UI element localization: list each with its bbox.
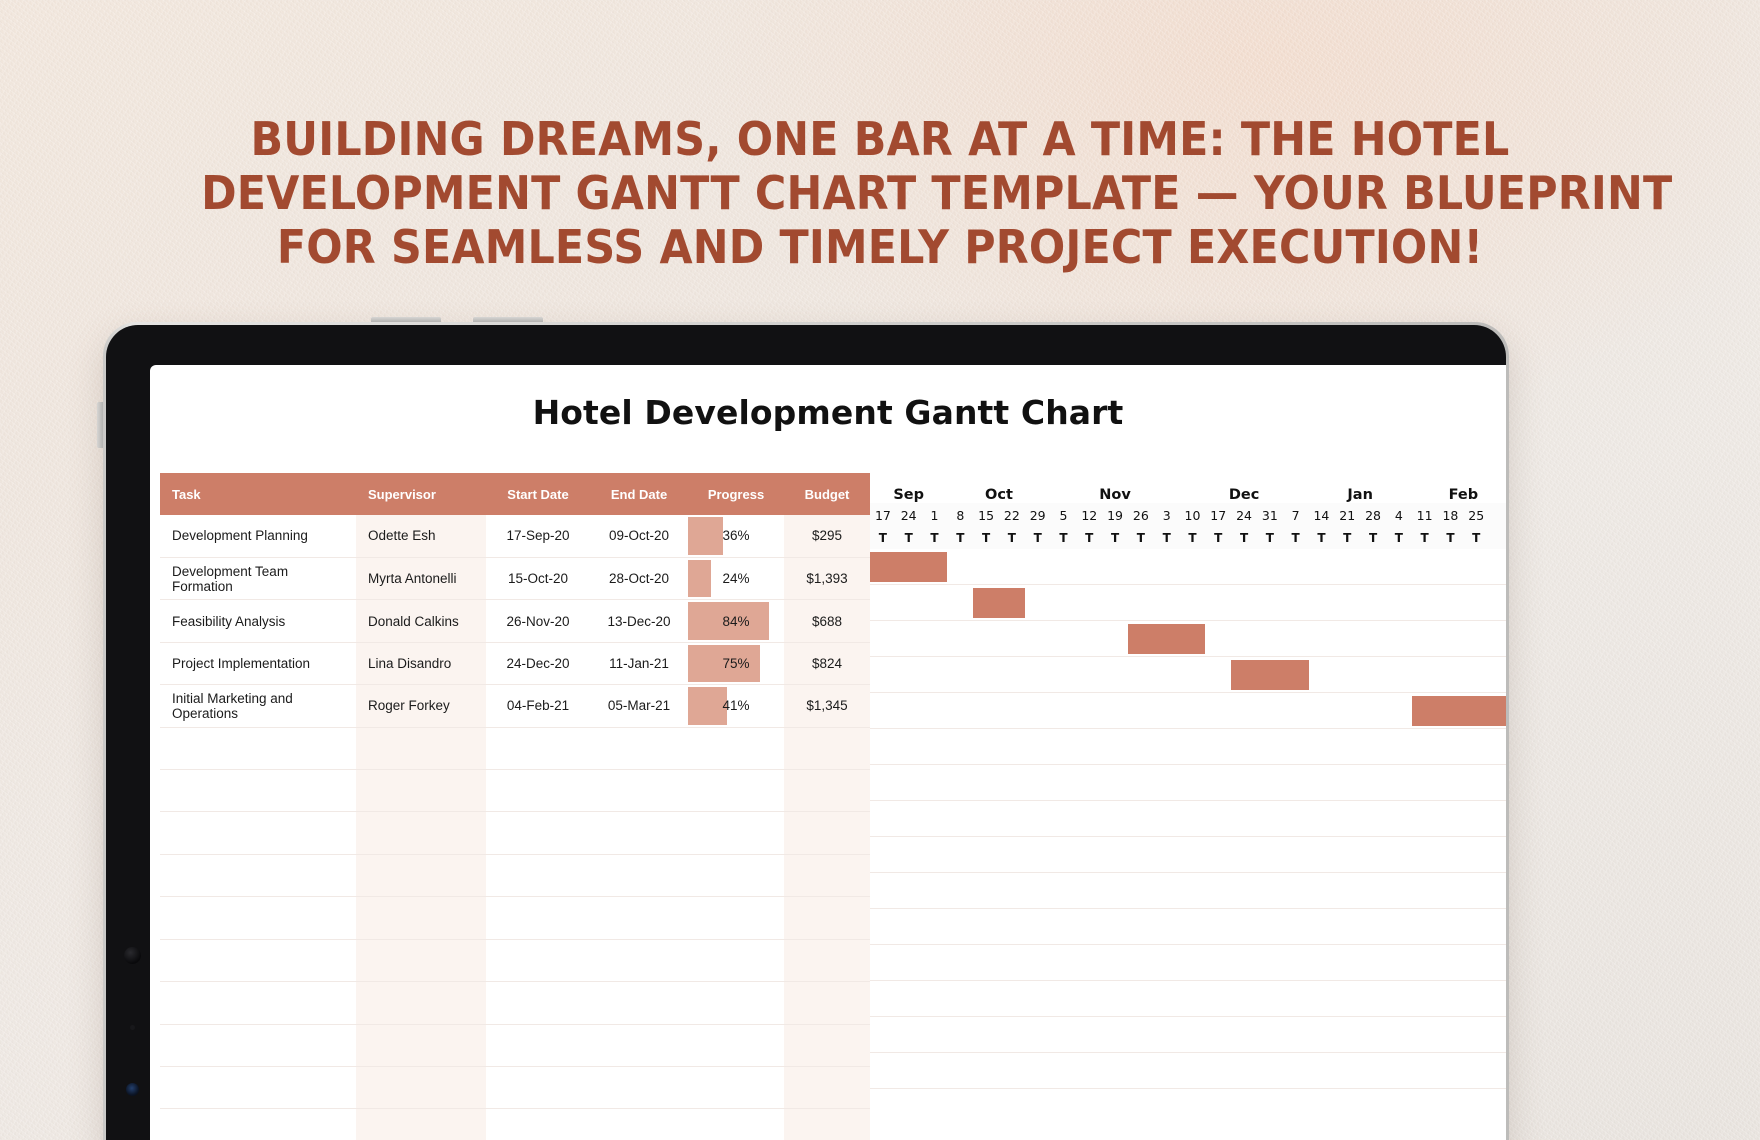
tablet-screen: Hotel Development Gantt Chart Task Super… <box>150 365 1506 1140</box>
timeline-tick-icon: T <box>947 531 973 545</box>
cell-empty[interactable] <box>160 982 356 1024</box>
cell-task[interactable]: Feasibility Analysis <box>160 600 356 642</box>
cell-empty[interactable] <box>590 939 688 981</box>
progress-label: 24% <box>722 571 749 586</box>
timeline-day-label: 14 <box>1309 508 1335 523</box>
table-row-empty[interactable] <box>160 770 870 812</box>
timeline-tick-icon: T <box>999 531 1025 545</box>
cell-supervisor[interactable]: Lina Disandro <box>356 642 486 684</box>
timeline-day-label: 25 <box>1463 508 1489 523</box>
table-row-empty[interactable] <box>160 897 870 939</box>
gantt-bar[interactable] <box>870 552 947 582</box>
cell-empty[interactable] <box>784 1066 870 1108</box>
headline-line-3: FOR SEAMLESS AND TIMELY PROJECT EXECUTIO… <box>201 220 1559 274</box>
timeline-month-label: Sep <box>870 487 947 503</box>
timeline-tick-icon: T <box>1025 531 1051 545</box>
cell-empty[interactable] <box>486 1109 590 1140</box>
column-header-progress[interactable]: Progress <box>688 473 784 515</box>
cell-empty[interactable] <box>688 770 784 812</box>
table-row-empty[interactable] <box>160 1109 870 1140</box>
page-headline: BUILDING DREAMS, ONE BAR AT A TIME: THE … <box>62 112 1699 274</box>
cell-empty[interactable] <box>688 982 784 1024</box>
cell-empty[interactable] <box>590 1066 688 1108</box>
table-row[interactable]: Development PlanningOdette Esh17-Sep-200… <box>160 515 870 557</box>
cell-empty[interactable] <box>160 897 356 939</box>
timeline-month-row: SepOctNovDecJanFeb <box>870 473 1506 503</box>
timeline-day-label: 4 <box>1386 508 1412 523</box>
cell-empty[interactable] <box>688 854 784 896</box>
timeline-month-label: Jan <box>1309 487 1412 503</box>
timeline-tick-icon: T <box>973 531 999 545</box>
timeline-tick-row: TTTTTTTTTTTTTTTTTTTTTTTT <box>870 527 1506 549</box>
table-row[interactable]: Project ImplementationLina Disandro24-De… <box>160 642 870 684</box>
gantt-bar[interactable] <box>1128 624 1205 654</box>
gantt-bar[interactable] <box>1231 660 1308 690</box>
timeline-tick-icon: T <box>1154 531 1180 545</box>
timeline-day-label: 24 <box>896 508 922 523</box>
timeline-day-label: 5 <box>1051 508 1077 523</box>
cell-empty[interactable] <box>688 1109 784 1140</box>
timeline-day-label: 8 <box>947 508 973 523</box>
cell-empty[interactable] <box>784 770 870 812</box>
timeline-tick-icon: T <box>870 531 896 545</box>
cell-supervisor[interactable]: Myrta Antonelli <box>356 557 486 599</box>
table-row-empty[interactable] <box>160 1066 870 1108</box>
cell-supervisor[interactable]: Odette Esh <box>356 515 486 557</box>
gantt-row-empty[interactable] <box>870 981 1506 1017</box>
timeline-day-label: 24 <box>1231 508 1257 523</box>
cell-progress[interactable]: 41% <box>688 685 784 727</box>
cell-empty[interactable] <box>688 1024 784 1066</box>
cell-start-date[interactable]: 17-Sep-20 <box>486 515 590 557</box>
cell-budget[interactable]: $1,345 <box>784 685 870 727</box>
progress-bar <box>688 517 723 555</box>
timeline-day-label: 17 <box>870 508 896 523</box>
timeline-day-label: 29 <box>1025 508 1051 523</box>
cell-start-date[interactable]: 15-Oct-20 <box>486 557 590 599</box>
gantt-row[interactable] <box>870 621 1506 657</box>
timeline-tick-icon: T <box>1463 531 1489 545</box>
tablet-device-mockup: Hotel Development Gantt Chart Task Super… <box>103 322 1509 1140</box>
gantt-row-empty[interactable] <box>870 729 1506 765</box>
cell-task[interactable]: Development Planning <box>160 515 356 557</box>
cell-empty[interactable] <box>356 727 486 769</box>
timeline-day-label: 31 <box>1257 508 1283 523</box>
table-row-empty[interactable] <box>160 854 870 896</box>
gantt-row[interactable] <box>870 657 1506 693</box>
cell-empty[interactable] <box>160 1066 356 1108</box>
timeline-day-label: 3 <box>1154 508 1180 523</box>
cell-empty[interactable] <box>590 1024 688 1066</box>
device-volume-button[interactable] <box>97 402 103 448</box>
gantt-row-empty[interactable] <box>870 909 1506 945</box>
cell-empty[interactable] <box>590 812 688 854</box>
gantt-timeline: SepOctNovDecJanFeb 172418152229512192631… <box>870 473 1506 1140</box>
timeline-day-label: 1 <box>922 508 948 523</box>
progress-label: 41% <box>722 698 749 713</box>
tablet-bezel: Hotel Development Gantt Chart Task Super… <box>106 325 1506 1140</box>
table-row-empty[interactable] <box>160 982 870 1024</box>
gantt-row-empty[interactable] <box>870 837 1506 873</box>
timeline-tick-icon: T <box>1180 531 1206 545</box>
cell-end-date[interactable]: 05-Mar-21 <box>590 685 688 727</box>
timeline-tick-icon: T <box>1128 531 1154 545</box>
cell-empty[interactable] <box>688 727 784 769</box>
gantt-bar[interactable] <box>973 588 1025 618</box>
cell-empty[interactable] <box>688 812 784 854</box>
cell-empty[interactable] <box>160 939 356 981</box>
device-camera-icon <box>124 947 141 964</box>
cell-empty[interactable] <box>784 854 870 896</box>
cell-empty[interactable] <box>486 1024 590 1066</box>
timeline-tick-icon: T <box>1257 531 1283 545</box>
cell-start-date[interactable]: 24-Dec-20 <box>486 642 590 684</box>
cell-empty[interactable] <box>486 982 590 1024</box>
cell-empty[interactable] <box>356 854 486 896</box>
timeline-day-label: 11 <box>1412 508 1438 523</box>
timeline-day-label: 19 <box>1102 508 1128 523</box>
timeline-month-label: Oct <box>947 487 1050 503</box>
cell-empty[interactable] <box>486 939 590 981</box>
cell-empty[interactable] <box>160 812 356 854</box>
cell-empty[interactable] <box>356 939 486 981</box>
table-header-row: Task Supervisor Start Date End Date Prog… <box>160 473 870 515</box>
table-row[interactable]: Initial Marketing and OperationsRoger Fo… <box>160 685 870 727</box>
cell-empty[interactable] <box>784 982 870 1024</box>
timeline-day-label: 21 <box>1334 508 1360 523</box>
headline-line-1: BUILDING DREAMS, ONE BAR AT A TIME: THE … <box>201 112 1559 166</box>
cell-empty[interactable] <box>356 1024 486 1066</box>
cell-budget[interactable]: $688 <box>784 600 870 642</box>
timeline-day-label: 17 <box>1205 508 1231 523</box>
cell-progress[interactable]: 36% <box>688 515 784 557</box>
device-sensor-icon <box>130 1025 135 1030</box>
cell-progress[interactable]: 75% <box>688 642 784 684</box>
cell-empty[interactable] <box>356 770 486 812</box>
cell-empty[interactable] <box>784 727 870 769</box>
spreadsheet-title: Hotel Development Gantt Chart <box>150 365 1506 432</box>
timeline-day-label: 18 <box>1438 508 1464 523</box>
timeline-tick-icon: T <box>1334 531 1360 545</box>
cell-empty[interactable] <box>784 812 870 854</box>
task-table: Task Supervisor Start Date End Date Prog… <box>160 473 870 1140</box>
headline-line-2: DEVELOPMENT GANTT CHART TEMPLATE — YOUR … <box>201 166 1559 220</box>
cell-empty[interactable] <box>590 770 688 812</box>
column-header-task[interactable]: Task <box>160 473 356 515</box>
cell-empty[interactable] <box>784 1024 870 1066</box>
cell-end-date[interactable]: 13-Dec-20 <box>590 600 688 642</box>
progress-label: 84% <box>722 614 749 629</box>
cell-empty[interactable] <box>486 854 590 896</box>
cell-budget[interactable]: $824 <box>784 642 870 684</box>
timeline-day-row: 1724181522295121926310172431714212841118… <box>870 503 1506 527</box>
timeline-day-label: 15 <box>973 508 999 523</box>
cell-empty[interactable] <box>688 939 784 981</box>
progress-label: 36% <box>722 528 749 543</box>
cell-progress[interactable]: 24% <box>688 557 784 599</box>
cell-empty[interactable] <box>356 897 486 939</box>
timeline-tick-icon: T <box>1051 531 1077 545</box>
cell-empty[interactable] <box>784 1109 870 1140</box>
column-header-budget[interactable]: Budget <box>784 473 870 515</box>
table-row-empty[interactable] <box>160 1024 870 1066</box>
timeline-tick-icon: T <box>1360 531 1386 545</box>
timeline-tick-icon: T <box>1412 531 1438 545</box>
timeline-tick-icon: T <box>1438 531 1464 545</box>
cell-empty[interactable] <box>688 897 784 939</box>
gantt-row-empty[interactable] <box>870 873 1506 909</box>
cell-empty[interactable] <box>688 1066 784 1108</box>
column-header-end-date[interactable]: End Date <box>590 473 688 515</box>
timeline-tick-icon: T <box>896 531 922 545</box>
device-indicator-icon <box>126 1083 139 1096</box>
cell-empty[interactable] <box>160 727 356 769</box>
cell-empty[interactable] <box>784 939 870 981</box>
gantt-row[interactable] <box>870 693 1506 729</box>
cell-task[interactable]: Initial Marketing and Operations <box>160 685 356 727</box>
gantt-row-empty[interactable] <box>870 1017 1506 1053</box>
table-row[interactable]: Feasibility AnalysisDonald Calkins26-Nov… <box>160 600 870 642</box>
device-top-button-2[interactable] <box>473 317 543 322</box>
cell-empty[interactable] <box>160 1024 356 1066</box>
cell-task[interactable]: Project Implementation <box>160 642 356 684</box>
cell-empty[interactable] <box>486 812 590 854</box>
cell-supervisor[interactable]: Roger Forkey <box>356 685 486 727</box>
cell-supervisor[interactable]: Donald Calkins <box>356 600 486 642</box>
cell-empty[interactable] <box>356 1066 486 1108</box>
gantt-bar[interactable] <box>1412 696 1506 726</box>
cell-end-date[interactable]: 28-Oct-20 <box>590 557 688 599</box>
cell-budget[interactable]: $295 <box>784 515 870 557</box>
cell-empty[interactable] <box>590 854 688 896</box>
cell-empty[interactable] <box>356 1109 486 1140</box>
timeline-tick-icon: T <box>1076 531 1102 545</box>
timeline-day-label: 26 <box>1128 508 1154 523</box>
cell-empty[interactable] <box>356 812 486 854</box>
table-body: Development PlanningOdette Esh17-Sep-200… <box>160 515 870 1140</box>
cell-end-date[interactable]: 11-Jan-21 <box>590 642 688 684</box>
cell-empty[interactable] <box>356 982 486 1024</box>
progress-label: 75% <box>722 656 749 671</box>
timeline-tick-icon: T <box>1102 531 1128 545</box>
device-top-button-1[interactable] <box>371 317 441 322</box>
timeline-tick-icon: T <box>1231 531 1257 545</box>
timeline-day-label: 28 <box>1360 508 1386 523</box>
cell-empty[interactable] <box>160 854 356 896</box>
cell-empty[interactable] <box>486 770 590 812</box>
timeline-tick-icon: T <box>1205 531 1231 545</box>
cell-budget[interactable]: $1,393 <box>784 557 870 599</box>
progress-bar <box>688 560 711 597</box>
cell-end-date[interactable]: 09-Oct-20 <box>590 515 688 557</box>
cell-empty[interactable] <box>160 1109 356 1140</box>
gantt-row-empty[interactable] <box>870 801 1506 837</box>
timeline-day-label: 22 <box>999 508 1025 523</box>
cell-task[interactable]: Development Team Formation <box>160 557 356 599</box>
column-header-supervisor[interactable]: Supervisor <box>356 473 486 515</box>
gantt-row[interactable] <box>870 585 1506 621</box>
gantt-row-empty[interactable] <box>870 765 1506 801</box>
cell-start-date[interactable]: 26-Nov-20 <box>486 600 590 642</box>
gantt-row-empty[interactable] <box>870 945 1506 981</box>
timeline-month-label: Dec <box>1180 487 1309 503</box>
cell-empty[interactable] <box>590 727 688 769</box>
table-row-empty[interactable] <box>160 939 870 981</box>
cell-empty[interactable] <box>590 897 688 939</box>
timeline-tick-icon: T <box>1386 531 1412 545</box>
timeline-month-label: Nov <box>1051 487 1180 503</box>
gantt-row[interactable] <box>870 549 1506 585</box>
cell-empty[interactable] <box>590 1109 688 1140</box>
table-row-empty[interactable] <box>160 727 870 769</box>
cell-empty[interactable] <box>784 897 870 939</box>
timeline-day-label: 12 <box>1076 508 1102 523</box>
timeline-day-label: 7 <box>1283 508 1309 523</box>
timeline-month-label: Feb <box>1412 487 1506 503</box>
timeline-day-label: 10 <box>1180 508 1206 523</box>
cell-empty[interactable] <box>160 770 356 812</box>
gantt-row-empty[interactable] <box>870 1053 1506 1089</box>
cell-empty[interactable] <box>486 727 590 769</box>
cell-progress[interactable]: 84% <box>688 600 784 642</box>
timeline-tick-icon: T <box>922 531 948 545</box>
table-row-empty[interactable] <box>160 812 870 854</box>
cell-start-date[interactable]: 04-Feb-21 <box>486 685 590 727</box>
cell-empty[interactable] <box>590 982 688 1024</box>
column-header-start-date[interactable]: Start Date <box>486 473 590 515</box>
cell-empty[interactable] <box>486 897 590 939</box>
gantt-spreadsheet: Task Supervisor Start Date End Date Prog… <box>160 473 1506 1140</box>
timeline-tick-icon: T <box>1309 531 1335 545</box>
timeline-tick-icon: T <box>1283 531 1309 545</box>
cell-empty[interactable] <box>486 1066 590 1108</box>
table-row[interactable]: Development Team FormationMyrta Antonell… <box>160 557 870 599</box>
